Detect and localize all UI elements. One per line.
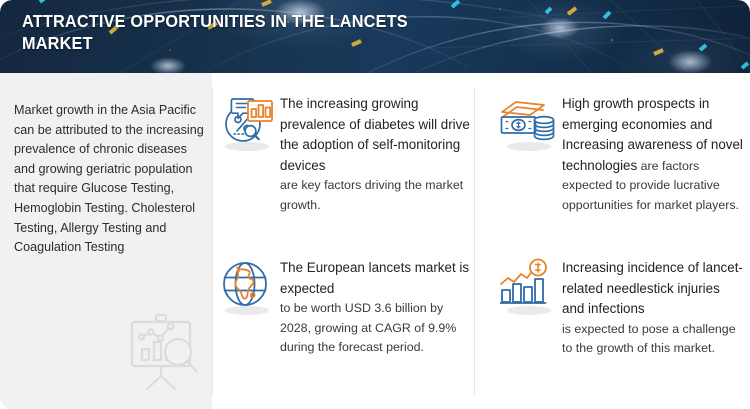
page-title: ATTRACTIVE OPPORTUNITIES IN THE LANCETS … <box>22 10 422 54</box>
content-area: Market growth in the Asia Pacific can be… <box>0 73 750 409</box>
insight-tail: are key factors driving the market growt… <box>280 178 463 212</box>
insight-block-emerging-economies: High growth prospects in emerging econom… <box>500 93 744 215</box>
globe-icon <box>218 257 274 313</box>
regional-panel: Market growth in the Asia Pacific can be… <box>0 73 212 409</box>
insight-text: The European lancets market is expected … <box>280 257 470 358</box>
insight-text: Increasing incidence of lancet-related n… <box>562 257 744 359</box>
insight-text: The increasing growing prevalence of dia… <box>280 93 470 215</box>
presentation-chart-search-icon <box>118 309 204 395</box>
infographic-page: ATTRACTIVE OPPORTUNITIES IN THE LANCETS … <box>0 0 750 409</box>
insight-lead: The increasing growing prevalence of dia… <box>280 96 470 173</box>
header-banner: ATTRACTIVE OPPORTUNITIES IN THE LANCETS … <box>0 0 750 73</box>
insight-block-diabetes-prevalence: The increasing growing prevalence of dia… <box>218 93 470 215</box>
insight-block-european-market: The European lancets market is expected … <box>218 257 470 358</box>
regional-paragraph: Market growth in the Asia Pacific can be… <box>14 101 204 258</box>
money-coins-icon <box>500 93 556 149</box>
insight-tail: to be worth USD 3.6 billion by 2028, gro… <box>280 301 456 354</box>
insight-lead: The European lancets market is expected <box>280 260 469 296</box>
insight-block-needlestick-injuries: Increasing incidence of lancet-related n… <box>500 257 744 359</box>
insight-tail: is expected to pose a challenge to the g… <box>562 322 736 356</box>
divider-middle <box>474 87 475 395</box>
insight-lead: Increasing incidence of lancet-related n… <box>562 260 743 316</box>
insight-text: High growth prospects in emerging econom… <box>562 93 744 215</box>
divider-left <box>212 87 213 395</box>
growth-chart-dollar-icon <box>500 257 556 313</box>
percent-analytics-icon <box>218 93 274 149</box>
